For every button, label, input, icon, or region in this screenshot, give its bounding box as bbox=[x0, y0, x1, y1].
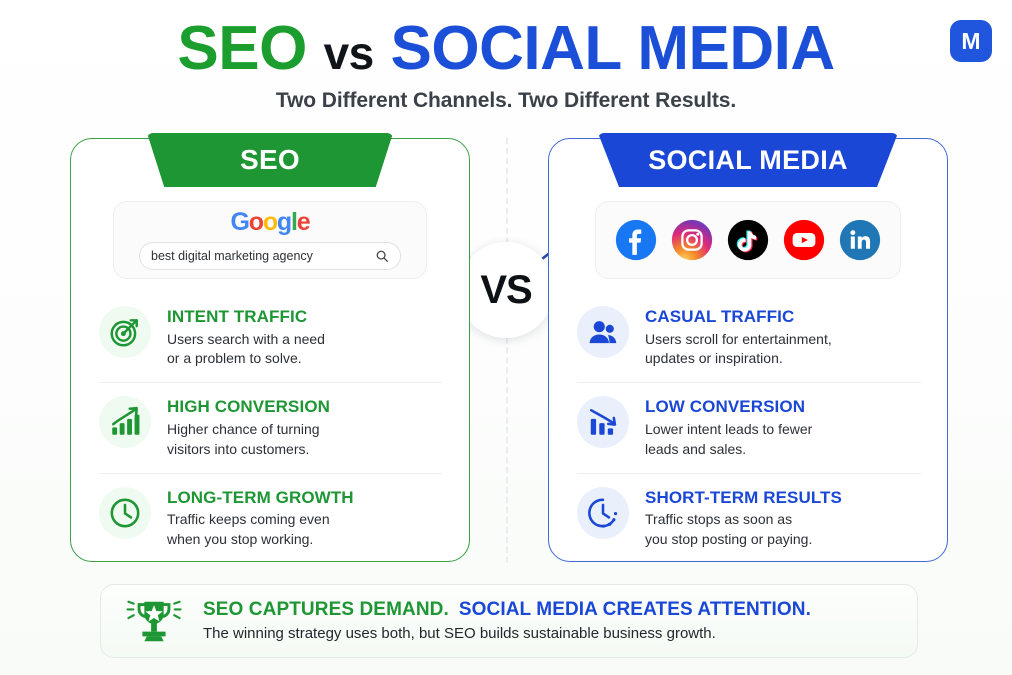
feature-desc-line1: Users scroll for entertainment, bbox=[645, 331, 832, 347]
google-letter-o1: o bbox=[249, 208, 263, 236]
social-icons-card bbox=[595, 201, 901, 279]
banner-heading-seo: SEO CAPTURES DEMAND. bbox=[203, 599, 449, 620]
social-media-panel: SOCIAL MEDIA bbox=[548, 138, 948, 562]
feature-desc-line2: leads and sales. bbox=[645, 441, 746, 457]
infographic-canvas: SEO vs SOCIAL MEDIA Two Different Channe… bbox=[0, 0, 1012, 675]
feature-row: LOW CONVERSION Lower intent leads to few… bbox=[577, 383, 921, 473]
feature-desc: Traffic keeps coming even when you stop … bbox=[167, 510, 354, 550]
summary-banner: SEO CAPTURES DEMAND.SOCIAL MEDIA CREATES… bbox=[100, 584, 918, 658]
vs-circle: VS bbox=[458, 242, 554, 338]
feature-text: HIGH CONVERSION Higher chance of turning… bbox=[167, 396, 330, 459]
feature-desc-line2: visitors into customers. bbox=[167, 441, 309, 457]
banner-subtext: The winning strategy uses both, but SEO … bbox=[203, 625, 811, 642]
feature-desc-line2: or a problem to solve. bbox=[167, 350, 302, 366]
feature-heading: LONG-TERM GROWTH bbox=[167, 488, 354, 508]
seo-panel: SEO Google best digital marketing agency bbox=[70, 138, 470, 562]
social-tab-label: SOCIAL MEDIA bbox=[648, 145, 848, 176]
banner-text: SEO CAPTURES DEMAND.SOCIAL MEDIA CREATES… bbox=[203, 599, 811, 644]
google-search-card: Google best digital marketing agency bbox=[113, 201, 427, 279]
page-subtitle: Two Different Channels. Two Different Re… bbox=[0, 89, 1012, 113]
center-divider bbox=[506, 138, 508, 563]
feature-desc-line2: updates or inspiration. bbox=[645, 350, 783, 366]
trophy-icon bbox=[123, 594, 185, 648]
banner-heading: SEO CAPTURES DEMAND.SOCIAL MEDIA CREATES… bbox=[203, 599, 811, 621]
seo-feature-list: INTENT TRAFFIC Users search with a need … bbox=[99, 293, 443, 563]
seo-tab-label: SEO bbox=[240, 144, 300, 176]
facebook-icon[interactable] bbox=[615, 219, 657, 261]
feature-heading: HIGH CONVERSION bbox=[167, 397, 330, 417]
feature-row: HIGH CONVERSION Higher chance of turning… bbox=[99, 383, 443, 473]
social-feature-list: CASUAL TRAFFIC Users scroll for entertai… bbox=[577, 293, 921, 563]
feature-text: SHORT-TERM RESULTS Traffic stops as soon… bbox=[645, 487, 842, 550]
feature-text: LOW CONVERSION Lower intent leads to few… bbox=[645, 396, 812, 459]
google-letter-g2: g bbox=[277, 208, 291, 236]
title-seo: SEO bbox=[177, 14, 306, 83]
feature-desc: Users search with a need or a problem to… bbox=[167, 330, 325, 370]
feature-heading: SHORT-TERM RESULTS bbox=[645, 488, 842, 508]
feature-row: LONG-TERM GROWTH Traffic keeps coming ev… bbox=[99, 474, 443, 563]
feature-desc: Traffic stops as soon as you stop postin… bbox=[645, 510, 842, 550]
title-social-media: SOCIAL MEDIA bbox=[390, 14, 834, 83]
linkedin-icon[interactable] bbox=[839, 219, 881, 261]
google-letter-o2: o bbox=[263, 208, 277, 236]
tiktok-icon[interactable] bbox=[727, 219, 769, 261]
feature-desc: Higher chance of turning visitors into c… bbox=[167, 420, 330, 460]
clock-icon bbox=[99, 487, 151, 539]
feature-heading: CASUAL TRAFFIC bbox=[645, 307, 832, 327]
brand-logo-badge: M bbox=[950, 20, 992, 62]
feature-text: CASUAL TRAFFIC Users scroll for entertai… bbox=[645, 306, 832, 369]
feature-heading: LOW CONVERSION bbox=[645, 397, 812, 417]
youtube-icon[interactable] bbox=[783, 219, 825, 261]
instagram-icon[interactable] bbox=[671, 219, 713, 261]
feature-desc-line1: Traffic keeps coming even bbox=[167, 511, 330, 527]
google-letter-e: e bbox=[297, 208, 310, 236]
clock-dashed-icon bbox=[577, 487, 629, 539]
brand-logo-letter: M bbox=[961, 30, 980, 53]
feature-desc: Users scroll for entertainment, updates … bbox=[645, 330, 832, 370]
bar-chart-up-icon bbox=[99, 396, 151, 448]
feature-text: INTENT TRAFFIC Users search with a need … bbox=[167, 306, 325, 369]
feature-text: LONG-TERM GROWTH Traffic keeps coming ev… bbox=[167, 487, 354, 550]
feature-row: SHORT-TERM RESULTS Traffic stops as soon… bbox=[577, 474, 921, 563]
social-media-panel-tab: SOCIAL MEDIA bbox=[598, 133, 898, 187]
feature-desc-line2: you stop posting or paying. bbox=[645, 531, 812, 547]
seo-panel-tab: SEO bbox=[147, 133, 393, 187]
feature-desc-line1: Higher chance of turning bbox=[167, 421, 320, 437]
feature-row: CASUAL TRAFFIC Users scroll for entertai… bbox=[577, 293, 921, 383]
vs-label: VS bbox=[480, 268, 531, 313]
feature-desc-line1: Traffic stops as soon as bbox=[645, 511, 792, 527]
feature-desc: Lower intent leads to fewer leads and sa… bbox=[645, 420, 812, 460]
bar-chart-down-icon bbox=[577, 396, 629, 448]
feature-heading: INTENT TRAFFIC bbox=[167, 307, 325, 327]
vs-marker: VS bbox=[458, 242, 554, 338]
title-vs: vs bbox=[324, 27, 374, 79]
target-icon bbox=[99, 306, 151, 358]
google-search-input[interactable]: best digital marketing agency bbox=[139, 242, 401, 270]
search-icon bbox=[375, 249, 389, 263]
feature-desc-line2: when you stop working. bbox=[167, 531, 313, 547]
google-letter-g1: G bbox=[231, 208, 249, 236]
banner-heading-social: SOCIAL MEDIA CREATES ATTENTION. bbox=[459, 599, 811, 620]
search-query-text: best digital marketing agency bbox=[151, 249, 375, 263]
page-title: SEO vs SOCIAL MEDIA bbox=[0, 16, 1012, 81]
users-icon bbox=[577, 306, 629, 358]
header: SEO vs SOCIAL MEDIA Two Different Channe… bbox=[0, 0, 1012, 113]
feature-row: INTENT TRAFFIC Users search with a need … bbox=[99, 293, 443, 383]
feature-desc-line1: Users search with a need bbox=[167, 331, 325, 347]
google-logo: Google bbox=[231, 210, 310, 235]
feature-desc-line1: Lower intent leads to fewer bbox=[645, 421, 812, 437]
